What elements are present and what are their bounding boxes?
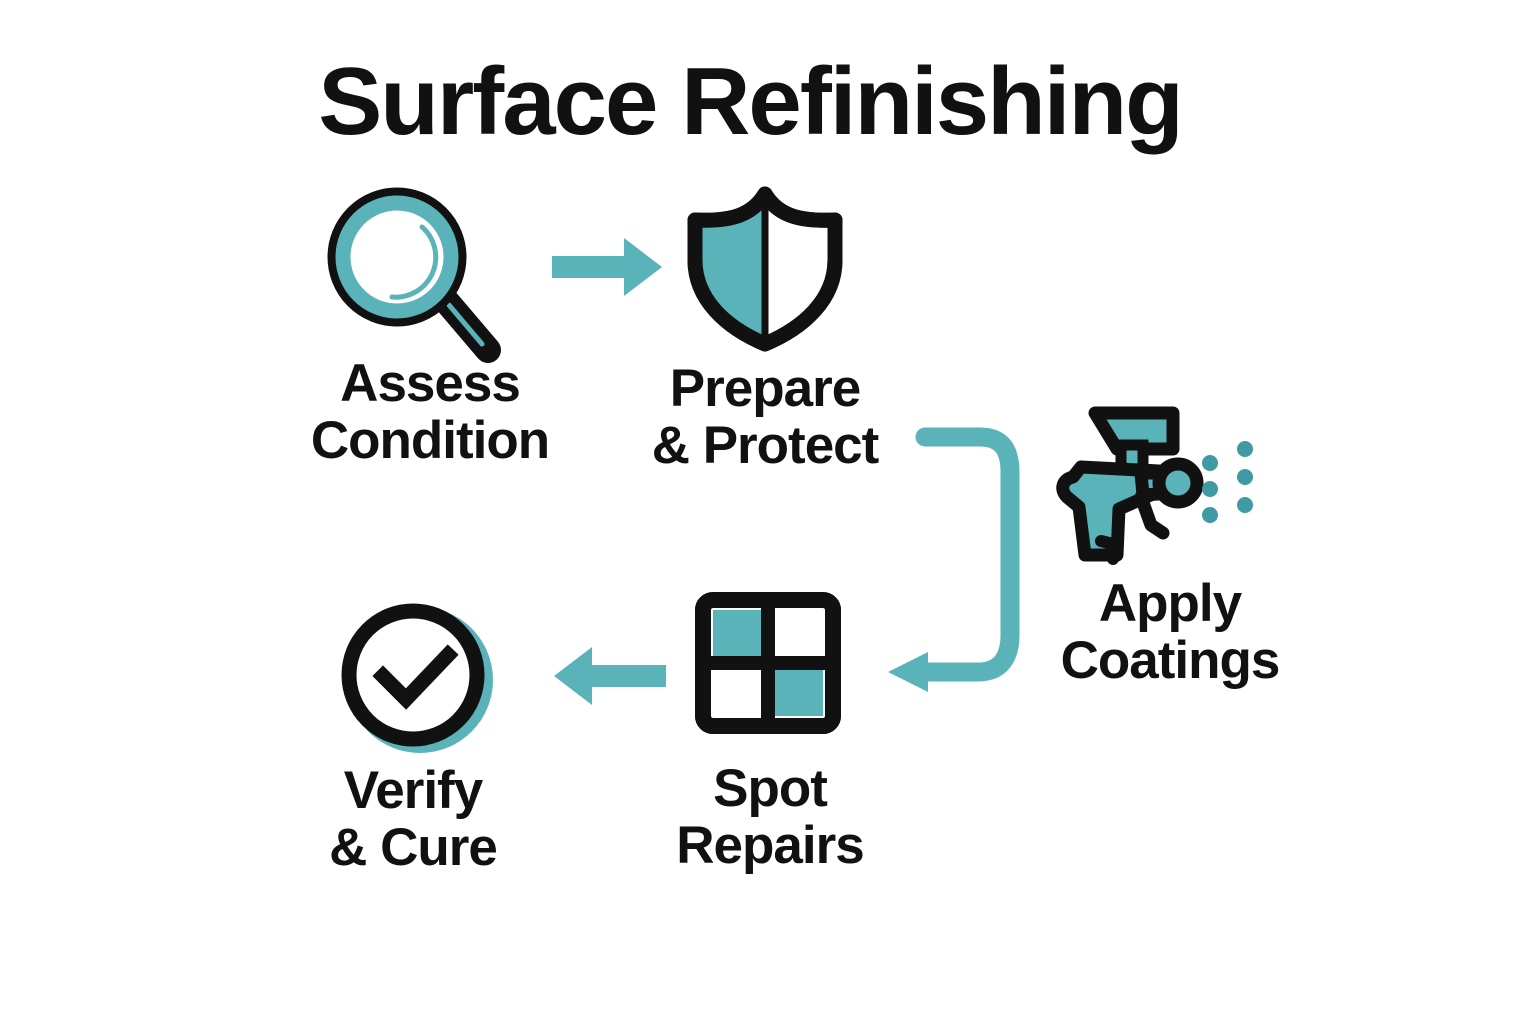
magnifying-glass-icon [310, 185, 550, 365]
step-spot-label: Spot Repairs [590, 760, 950, 874]
step-assess-label: Assess Condition [245, 355, 615, 469]
check-circle-icon [338, 600, 498, 760]
connector-spot-to-verify [548, 645, 668, 707]
page-title: Surface Refinishing [0, 52, 1500, 153]
step-apply-label: Apply Coatings [1000, 575, 1340, 689]
shield-icon [685, 188, 845, 348]
connector-assess-to-prepare [552, 236, 667, 298]
infographic-canvas: Surface Refinishing Assess Condition [0, 0, 1536, 1024]
step-verify-label: Verify & Cure [228, 762, 598, 876]
spray-gun-icon [1055, 405, 1285, 570]
checkerboard-grid-icon [695, 592, 841, 734]
